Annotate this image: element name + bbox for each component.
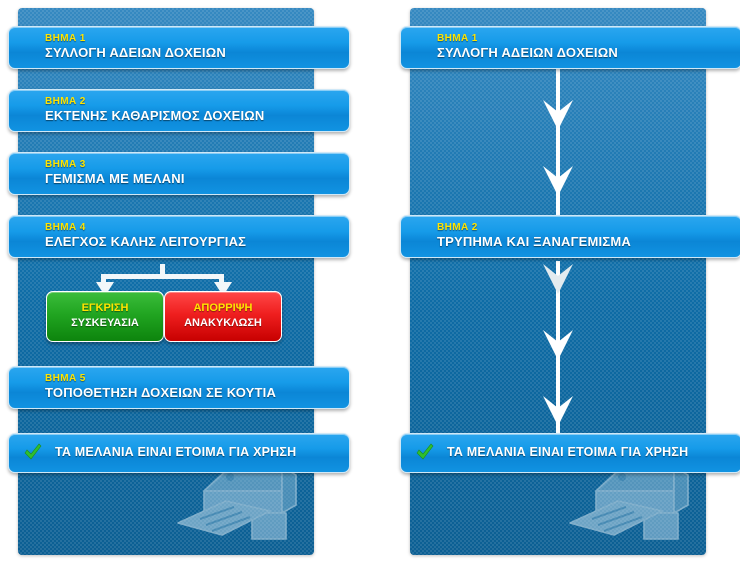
step-number: ΒΗΜΑ 1 xyxy=(437,33,731,45)
step-title: ΓΕΜΙΣΜΑ ΜΕ ΜΕΛΑΝΙ xyxy=(45,171,339,187)
step-number: ΒΗΜΑ 3 xyxy=(45,159,339,171)
step-bar-3[interactable]: ΒΗΜΑ 3 ΓΕΜΙΣΜΑ ΜΕ ΜΕΛΑΝΙ xyxy=(8,152,350,195)
step-number: ΒΗΜΑ 5 xyxy=(45,373,339,385)
step-bar-2[interactable]: ΒΗΜΑ 2 ΕΚΤΕΝΗΣ ΚΑΘΑΡΙΣΜΟΣ ΔΟΧΕΙΩΝ xyxy=(8,89,350,132)
refill-process-column: ΒΗΜΑ 1 ΣΥΛΛΟΓΗ ΑΔΕΙΩΝ ΔΟΧΕΙΩΝ ΒΗΜΑ 2 ΤΡΥ… xyxy=(410,8,706,555)
step-title: ΤΡΥΠΗΜΑ ΚΑΙ ΞΑΝΑΓΕΜΙΣΜΑ xyxy=(437,234,731,250)
check-icon xyxy=(415,443,435,463)
decision-subtext: ΑΝΑΚΥΚΛΩΣΗ xyxy=(169,315,277,331)
decision-heading: ΕΓΚΡΙΣΗ xyxy=(51,301,159,315)
step-title: ΤΟΠΟΘΕΤΗΣΗ ΔΟΧΕΙΩΝ ΣΕ ΚΟΥΤΙΑ xyxy=(45,385,339,401)
step-title: ΕΚΤΕΝΗΣ ΚΑΘΑΡΙΣΜΟΣ ΔΟΧΕΙΩΝ xyxy=(45,108,339,124)
decision-subtext: ΣΥΣΚΕΥΑΣΙΑ xyxy=(51,315,159,331)
step-bar-4[interactable]: ΒΗΜΑ 4 ΕΛΕΓΧΟΣ ΚΑΛΗΣ ΛΕΙΤΟΥΡΓΙΑΣ xyxy=(8,215,350,258)
step-number: ΒΗΜΑ 1 xyxy=(45,33,339,45)
printer-icon xyxy=(562,461,702,553)
step-bar-5[interactable]: ΒΗΜΑ 5 ΤΟΠΟΘΕΤΗΣΗ ΔΟΧΕΙΩΝ ΣΕ ΚΟΥΤΙΑ xyxy=(8,366,350,409)
step-bar-1[interactable]: ΒΗΜΑ 1 ΣΥΛΛΟΓΗ ΑΔΕΙΩΝ ΔΟΧΕΙΩΝ xyxy=(8,26,350,69)
remanufacturing-process-column: ΒΗΜΑ 1 ΣΥΛΛΟΓΗ ΑΔΕΙΩΝ ΔΟΧΕΙΩΝ ΒΗΜΑ 2 ΕΚΤ… xyxy=(18,8,314,555)
decision-box-reject[interactable]: ΑΠΟΡΡΙΨΗ ΑΝΑΚΥΚΛΩΣΗ xyxy=(164,291,282,342)
decision-box-approve[interactable]: ΕΓΚΡΙΣΗ ΣΥΣΚΕΥΑΣΙΑ xyxy=(46,291,164,342)
step-number: ΒΗΜΑ 4 xyxy=(45,222,339,234)
printer-icon xyxy=(170,461,310,553)
final-status-bar[interactable]: ΤΑ ΜΕΛΑΝΙΑ ΕΙΝΑΙ ΕΤΟΙΜΑ ΓΙΑ ΧΡΗΣΗ xyxy=(400,433,740,473)
final-status-text: ΤΑ ΜΕΛΑΝΙΑ ΕΙΝΑΙ ΕΤΟΙΜΑ ΓΙΑ ΧΡΗΣΗ xyxy=(447,445,731,460)
final-status-text: ΤΑ ΜΕΛΑΝΙΑ ΕΙΝΑΙ ΕΤΟΙΜΑ ΓΙΑ ΧΡΗΣΗ xyxy=(55,445,339,460)
step-number: ΒΗΜΑ 2 xyxy=(437,222,731,234)
step-number: ΒΗΜΑ 2 xyxy=(45,96,339,108)
final-status-bar[interactable]: ΤΑ ΜΕΛΑΝΙΑ ΕΙΝΑΙ ΕΤΟΙΜΑ ΓΙΑ ΧΡΗΣΗ xyxy=(8,433,350,473)
decision-heading: ΑΠΟΡΡΙΨΗ xyxy=(169,301,277,315)
step-title: ΣΥΛΛΟΓΗ ΑΔΕΙΩΝ ΔΟΧΕΙΩΝ xyxy=(45,45,339,61)
step-bar-2[interactable]: ΒΗΜΑ 2 ΤΡΥΠΗΜΑ ΚΑΙ ΞΑΝΑΓΕΜΙΣΜΑ xyxy=(400,215,740,258)
check-icon xyxy=(23,443,43,463)
step-bar-1[interactable]: ΒΗΜΑ 1 ΣΥΛΛΟΓΗ ΑΔΕΙΩΝ ΔΟΧΕΙΩΝ xyxy=(400,26,740,69)
step-title: ΕΛΕΓΧΟΣ ΚΑΛΗΣ ΛΕΙΤΟΥΡΓΙΑΣ xyxy=(45,234,339,250)
step-title: ΣΥΛΛΟΓΗ ΑΔΕΙΩΝ ΔΟΧΕΙΩΝ xyxy=(437,45,731,61)
